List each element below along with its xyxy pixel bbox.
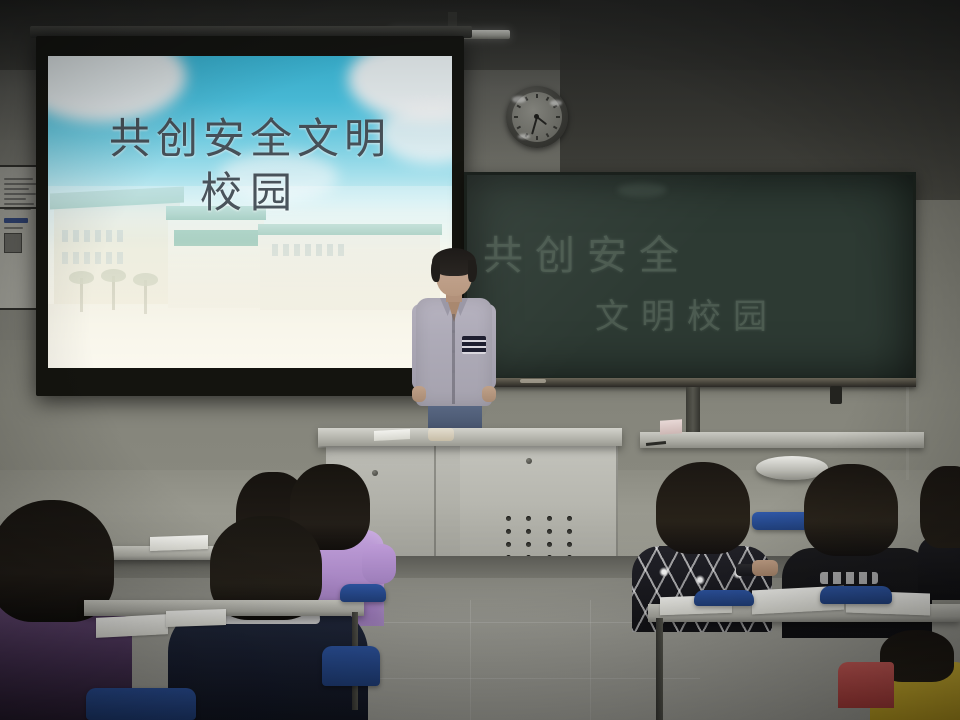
projection-screen[interactable]: 共创安全文明 校园 xyxy=(48,56,452,368)
shirt-button xyxy=(452,350,455,353)
chair-back[interactable] xyxy=(86,688,196,720)
shirt-button xyxy=(452,390,455,393)
slide-title-block: 共创安全文明 校园 xyxy=(48,56,452,368)
wall-outlet[interactable] xyxy=(830,386,842,404)
presenter-hair-side xyxy=(431,260,440,282)
clock-tick xyxy=(553,126,557,130)
slide-title-line-1: 共创安全文明 xyxy=(109,112,391,166)
vent-hole xyxy=(567,542,572,547)
chair-back[interactable] xyxy=(694,590,754,606)
notice-text-line xyxy=(4,193,36,195)
vent-hole xyxy=(506,516,511,521)
notice-thumbnail xyxy=(4,233,22,253)
notice-heading xyxy=(4,218,28,223)
shirt-button xyxy=(452,330,455,333)
floor-tile-line xyxy=(360,678,700,679)
vent-hole xyxy=(526,542,531,547)
presenter-chest-pocket xyxy=(462,336,486,354)
notice-text-line xyxy=(4,188,29,190)
lectern-knob[interactable] xyxy=(526,458,532,464)
blackboard[interactable]: 共创安全 文明校园 xyxy=(464,172,916,382)
notice-text-line xyxy=(4,198,26,200)
notice-text-line xyxy=(4,203,34,205)
wall-clock xyxy=(506,86,568,148)
lectern-object[interactable] xyxy=(428,428,454,441)
presenter-left-hand xyxy=(412,386,426,402)
clock-tick xyxy=(546,97,550,101)
clock-minute-hand xyxy=(531,117,538,135)
lectern-papers[interactable] xyxy=(374,429,410,441)
clock-center-pin xyxy=(534,114,539,119)
side-table xyxy=(640,432,924,448)
red-bag xyxy=(838,662,894,708)
student-hair xyxy=(804,464,898,556)
notebook-paper[interactable] xyxy=(96,614,168,638)
shirt-button xyxy=(452,370,455,373)
vent-hole xyxy=(547,542,552,547)
paper-stack[interactable] xyxy=(660,419,682,435)
presenter-right-hand xyxy=(482,386,496,402)
vent-hole xyxy=(506,529,511,534)
chair-back[interactable] xyxy=(340,584,386,602)
vent-hole xyxy=(506,542,511,547)
shirt-graphic xyxy=(820,572,878,584)
sweater-snowflake xyxy=(694,574,706,586)
notebook-paper[interactable] xyxy=(166,609,226,627)
desk-leg xyxy=(656,618,663,720)
chalk-line-1: 共创安全 xyxy=(483,223,916,281)
clock-tick xyxy=(514,116,518,118)
student-right-edge xyxy=(918,470,960,600)
vent-hole xyxy=(526,516,531,521)
clock-tick xyxy=(517,126,521,130)
clock-tick xyxy=(536,136,538,140)
chalk-stick[interactable] xyxy=(520,379,546,383)
student-hair xyxy=(920,466,960,548)
vent-hole xyxy=(567,529,572,534)
vent-hole xyxy=(526,529,531,534)
vent-hole xyxy=(567,516,572,521)
student-hair xyxy=(656,462,750,554)
clock-highlight xyxy=(550,100,562,106)
notice-text-line xyxy=(4,227,23,229)
vent-hole xyxy=(547,516,552,521)
floor-tile-line xyxy=(470,600,471,720)
classroom-photo: 共创安全文明 校园 共创安全 xyxy=(0,0,960,720)
chair-back[interactable] xyxy=(322,646,380,686)
clock-tick xyxy=(546,133,550,137)
clock-tick xyxy=(556,116,560,118)
floor-tile-line xyxy=(590,600,591,720)
clock-highlight xyxy=(512,96,526,103)
blackboard-chalk-text: 共创安全 文明校园 xyxy=(467,185,916,375)
clock-tick xyxy=(517,105,521,109)
student-hand xyxy=(752,560,778,576)
vent-hole xyxy=(547,529,552,534)
chalk-line-2: 文明校园 xyxy=(595,289,916,338)
clock-tick xyxy=(536,94,538,98)
presenter-hair-side xyxy=(468,260,477,282)
slide-title-line-2: 校园 xyxy=(200,166,300,220)
presenter xyxy=(398,252,508,442)
notice-text-line xyxy=(4,183,37,185)
notice-text-line xyxy=(4,178,33,180)
clock-highlight xyxy=(518,134,530,139)
sweater-snowflake xyxy=(658,566,670,578)
chair-back[interactable] xyxy=(820,586,892,604)
lectern-top xyxy=(318,428,622,446)
right-upper-wall xyxy=(560,0,960,200)
